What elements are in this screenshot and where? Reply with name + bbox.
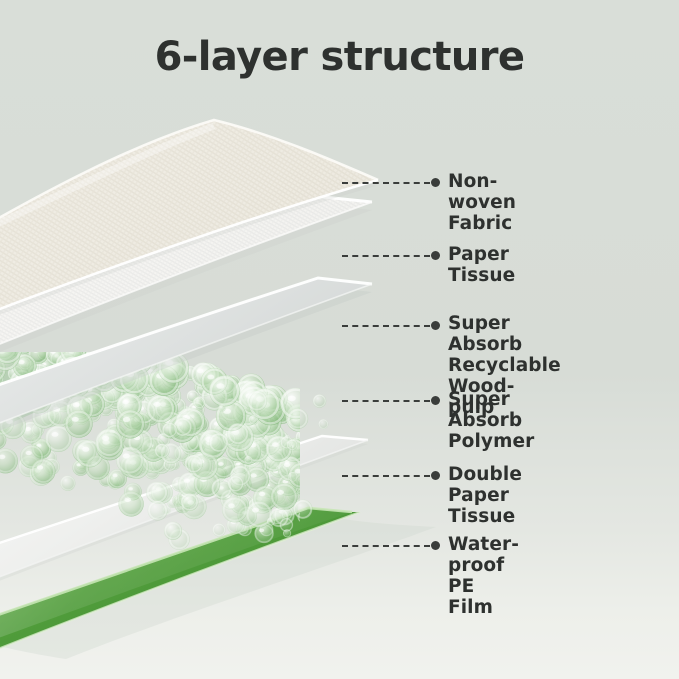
leader-line-3 xyxy=(342,325,430,327)
callout-label-4: Super Absorb Polymer xyxy=(448,389,534,452)
diagram-stage: 6-layer structure xyxy=(0,0,679,679)
callout-label-5: Double Paper Tissue xyxy=(448,464,522,527)
callout-label-2: Paper Tissue xyxy=(448,244,515,286)
callout-dot-4 xyxy=(431,396,440,405)
leader-line-6 xyxy=(342,545,430,547)
callout-dot-1 xyxy=(431,178,440,187)
leader-line-2 xyxy=(342,255,430,257)
callout-label-1: Non-woven Fabric xyxy=(448,171,516,234)
callout-dot-2 xyxy=(431,251,440,260)
leader-line-5 xyxy=(342,475,430,477)
leader-line-4 xyxy=(342,400,430,402)
callout-dot-5 xyxy=(431,471,440,480)
leader-line-1 xyxy=(342,182,430,184)
callout-label-6: Water-proof PE Film xyxy=(448,534,519,618)
callout-dot-6 xyxy=(431,541,440,550)
callout-dot-3 xyxy=(431,321,440,330)
callout-group: Non-woven Fabric Paper Tissue Super Abso… xyxy=(0,0,679,679)
